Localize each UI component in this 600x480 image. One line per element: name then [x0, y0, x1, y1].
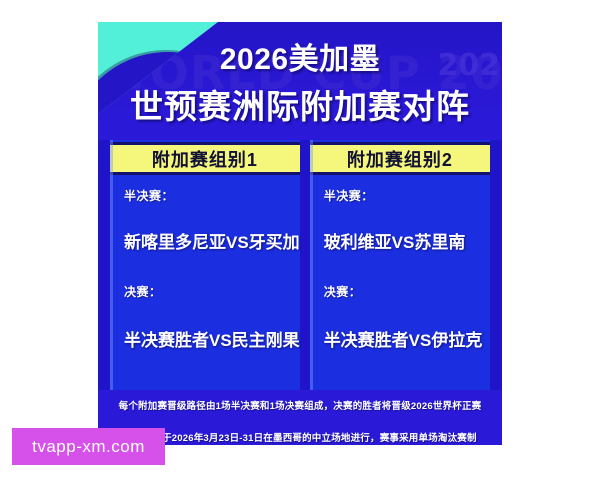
site-watermark-badge: tvapp-xm.com [12, 428, 165, 465]
column-2-semifinal-match: 玻利维亚VS苏里南 [324, 228, 490, 253]
poster-title-line-2: 世预赛洲际附加赛对阵 [98, 80, 502, 128]
poster-title-line-1: 2026美加墨 [98, 34, 502, 78]
column-2-body: 半决赛： 玻利维亚VS苏里南 决赛： 半决赛胜者VS伊拉克 [310, 175, 490, 390]
column-1-final-match: 半决赛胜者VS民主刚果 [124, 326, 300, 351]
column-2-banner: 附加赛组别2 [310, 142, 490, 175]
tournament-poster: WORLD CUP 2026 202 2026美加墨 世预赛洲际附加赛对阵 附加… [98, 22, 502, 445]
column-1-semifinal-label: 半决赛： [124, 187, 300, 204]
column-2-final-match: 半决赛胜者VS伊拉克 [324, 326, 490, 351]
bracket-column-2: 附加赛组别2 半决赛： 玻利维亚VS苏里南 决赛： 半决赛胜者VS伊拉克 [310, 140, 490, 390]
bracket-columns: 附加赛组别1 半决赛： 新喀里多尼亚VS牙买加 决赛： 半决赛胜者VS民主刚果 … [98, 140, 502, 390]
poster-header: WORLD CUP 2026 202 2026美加墨 世预赛洲际附加赛对阵 [98, 22, 502, 140]
column-1-banner: 附加赛组别1 [110, 142, 300, 175]
bracket-column-1: 附加赛组别1 半决赛： 新喀里多尼亚VS牙买加 决赛： 半决赛胜者VS民主刚果 [110, 140, 300, 390]
column-2-final-label: 决赛： [324, 283, 490, 300]
column-1-final-label: 决赛： [124, 283, 300, 300]
footer-note-line-1: 每个附加赛晋级路径由1场半决赛和1场决赛组成，决赛的胜者将晋级2026世界杯正赛 [98, 398, 502, 412]
column-1-body: 半决赛： 新喀里多尼亚VS牙买加 决赛： 半决赛胜者VS民主刚果 [110, 175, 300, 390]
column-2-semifinal-label: 半决赛： [324, 187, 490, 204]
column-1-semifinal-match: 新喀里多尼亚VS牙买加 [124, 228, 300, 253]
site-watermark-text: tvapp-xm.com [32, 437, 145, 457]
